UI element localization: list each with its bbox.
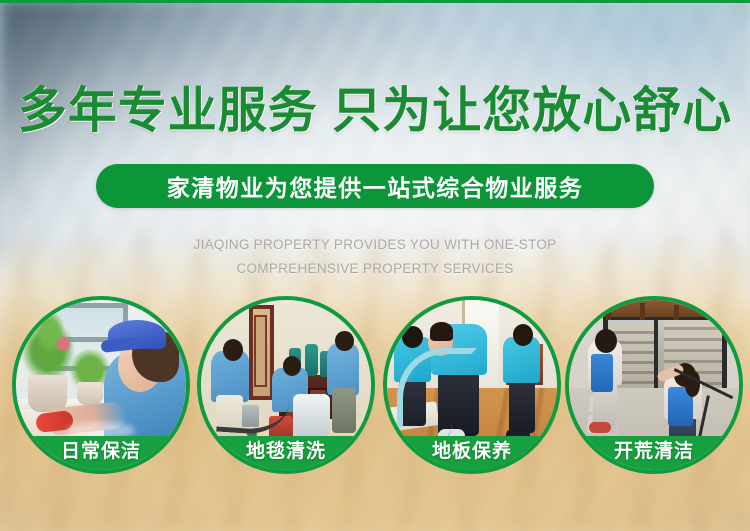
service-caption-label: 开荒清洁 [614, 440, 694, 464]
service-caption-label: 日常保洁 [61, 440, 141, 464]
service-circle-row: 日常保洁 [0, 296, 750, 478]
headline: 多年专业服务 只为让您放心舒心 [0, 84, 750, 138]
service-circle-rough-cleaning[interactable]: 开荒清洁 [565, 296, 743, 474]
service-circle-daily-cleaning[interactable]: 日常保洁 [12, 296, 190, 474]
service-caption-pill: 地板保养 [383, 436, 561, 474]
subhead-pill-label: 家清物业为您提供一站式综合物业服务 [167, 169, 584, 203]
service-caption-label: 地毯清洗 [246, 440, 326, 464]
service-caption-pill: 开荒清洁 [565, 436, 743, 474]
english-subtitle-line-1: JIAQING PROPERTY PROVIDES YOU WITH ONE-S… [0, 233, 750, 257]
english-subtitle-line-2: COMPREHENSIVE PROPERTY SERVICES [0, 257, 750, 281]
service-caption-pill: 地毯清洗 [197, 436, 375, 474]
service-caption-label: 地板保养 [432, 440, 512, 464]
top-green-rule [0, 0, 750, 3]
subhead-pill: 家清物业为您提供一站式综合物业服务 [96, 164, 654, 208]
promo-banner: 多年专业服务 只为让您放心舒心 家清物业为您提供一站式综合物业服务 JIAQIN… [0, 0, 750, 531]
service-circle-carpet-washing[interactable]: 地毯清洗 [197, 296, 375, 474]
service-caption-pill: 日常保洁 [12, 436, 190, 474]
english-subtitle: JIAQING PROPERTY PROVIDES YOU WITH ONE-S… [0, 233, 750, 281]
service-circle-floor-care[interactable]: 地板保养 [383, 296, 561, 474]
